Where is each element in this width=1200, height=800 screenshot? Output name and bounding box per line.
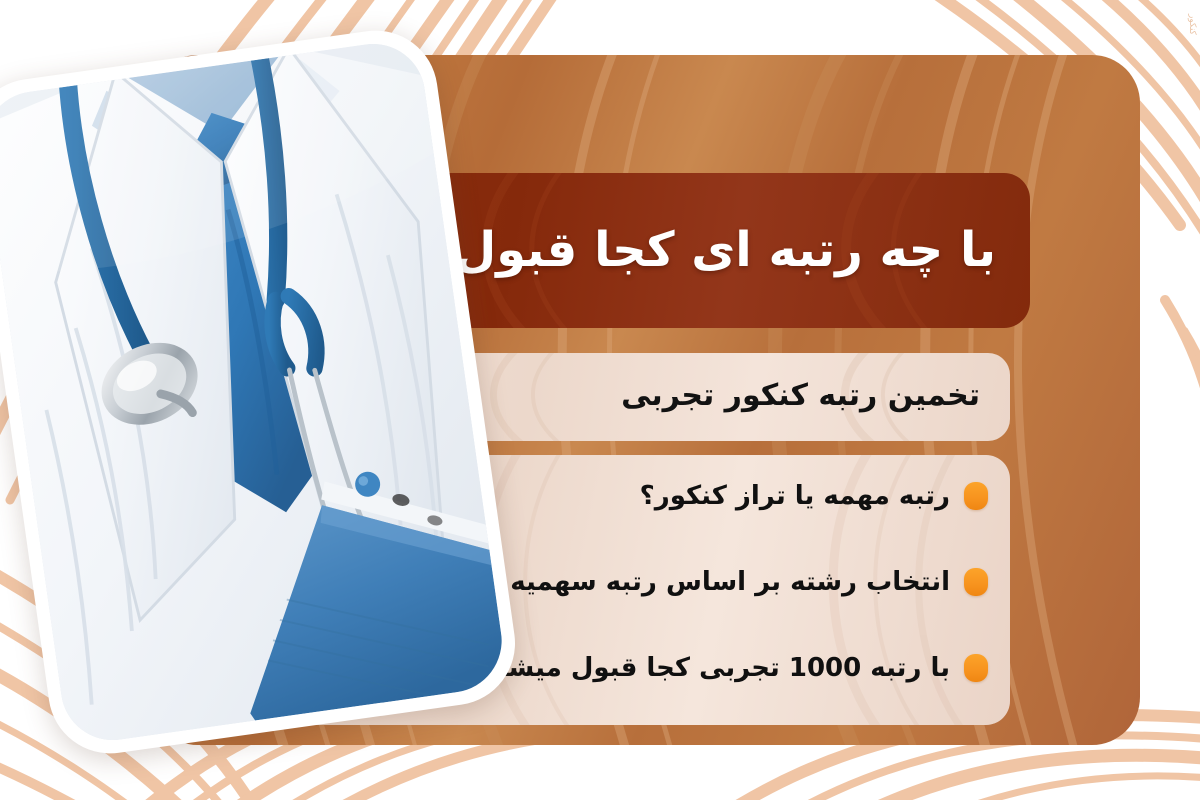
bullet-dot-icon xyxy=(964,654,988,682)
list-item-label: رتبه مهمه یا تراز کنکور؟ xyxy=(640,481,950,511)
bullet-dot-icon xyxy=(964,568,988,596)
list-item-label: انتخاب رشته بر اساس رتبه سهمیه xyxy=(510,567,950,597)
list-item[interactable]: انتخاب رشته بر اساس رتبه سهمیه xyxy=(510,567,988,597)
subtitle: تخمین رتبه کنکور تجربی xyxy=(621,378,980,413)
doctor-photo-illustration xyxy=(0,37,508,746)
list-item-label: با رتبه 1000 تجربی کجا قبول میشم؟ xyxy=(473,653,950,683)
list-item[interactable]: با رتبه 1000 تجربی کجا قبول میشم؟ xyxy=(473,653,988,683)
doctor-photo xyxy=(0,37,508,746)
banner-canvas: با چه رتبه ای کجا قبول میشم؟ تخمین رتبه … xyxy=(0,0,1200,800)
watermark-text: کنکور xyxy=(1187,14,1197,35)
bullet-dot-icon xyxy=(964,482,988,510)
list-item[interactable]: رتبه مهمه یا تراز کنکور؟ xyxy=(640,481,988,511)
